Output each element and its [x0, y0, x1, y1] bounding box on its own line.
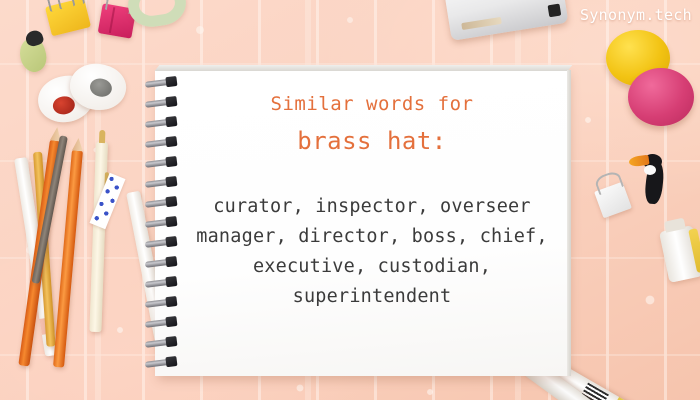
spiral-coil [145, 318, 176, 328]
toucan-chest [644, 165, 656, 175]
screenshot-root: Similar words for brass hat: curator, in… [0, 0, 700, 400]
toucan-icon [632, 150, 678, 204]
synonym-line: manager, director, boss, chief, [195, 222, 549, 252]
spiral-coil [145, 218, 176, 228]
spiral-coil [145, 358, 176, 368]
spiral-coil [145, 138, 176, 148]
spiral-coil [145, 78, 176, 88]
spiral-coil [145, 178, 176, 188]
notepad-top-edge [155, 65, 573, 71]
spiral-coil [145, 158, 176, 168]
spiral-coil [145, 258, 176, 268]
egg-eraser-red-center [52, 95, 76, 116]
spiral-coil [145, 338, 176, 348]
notepad-content: Similar words for brass hat: curator, in… [191, 90, 553, 312]
spiral-coil [145, 198, 176, 208]
egg-eraser-gray-center [88, 77, 113, 99]
spiral-coil [145, 98, 176, 108]
camera-flash [548, 4, 562, 18]
spiral-coil [145, 238, 176, 248]
spiral-coil [145, 298, 176, 308]
search-term: brass hat: [191, 125, 553, 159]
pink-macaron-icon [628, 68, 694, 126]
spiral-binding [145, 78, 179, 370]
notepad-right-edge [567, 70, 571, 376]
site-logo: Synonym.tech [580, 6, 692, 24]
spiral-coil [145, 278, 176, 288]
synonym-list: curator, inspector, overseer manager, di… [191, 192, 553, 312]
synonym-line: superintendent [195, 282, 549, 312]
synonym-line: curator, inspector, overseer [195, 192, 549, 222]
synonym-line: executive, custodian, [195, 252, 549, 282]
notepad: Similar words for brass hat: curator, in… [155, 70, 567, 376]
camera-grip [461, 17, 502, 30]
headline: Similar words for [191, 90, 553, 119]
spiral-coil [145, 118, 176, 128]
